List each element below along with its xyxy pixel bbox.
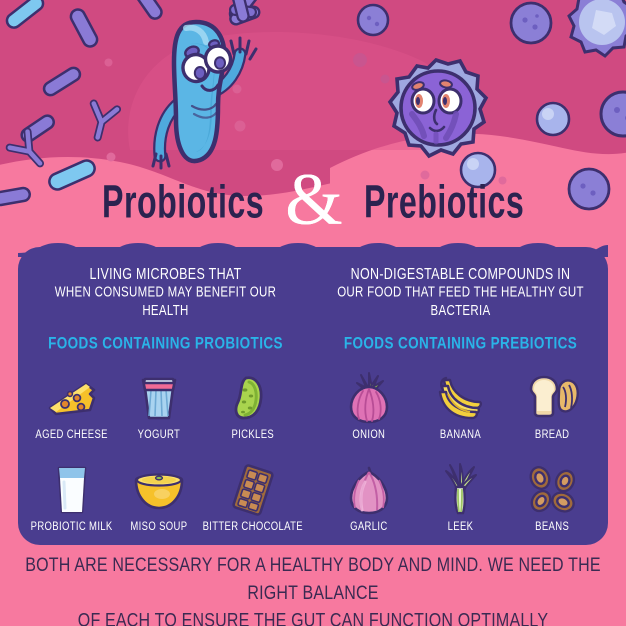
chocolate-bar-icon <box>227 463 279 517</box>
prebiotics-lead-line1: Non-digestable compounds in <box>335 265 586 284</box>
food-item-miso-soup[interactable]: Miso Soup <box>115 463 202 545</box>
food-item-pickles[interactable]: Pickles <box>203 371 303 453</box>
probiotics-lead-line1: Living microbes that <box>40 265 291 284</box>
beans-icon <box>525 463 579 517</box>
probiotics-subhead: Foods containing probiotics <box>18 334 313 352</box>
content-panel: Living microbes that when consumed may b… <box>18 247 608 545</box>
prebiotics-column: Non-digestable compounds in our food tha… <box>313 247 608 545</box>
infographic-canvas: Probiotics & Prebiotics Living microbes … <box>0 0 626 626</box>
round-cell-icon <box>355 2 391 38</box>
food-label: Leek <box>448 520 474 534</box>
food-label: Yogurt <box>138 428 181 442</box>
food-item-garlic[interactable]: Garlic <box>323 463 415 545</box>
food-label: Beans <box>535 520 569 534</box>
onion-icon <box>345 371 393 425</box>
round-cell-icon <box>560 0 626 68</box>
food-label: Garlic <box>350 520 387 534</box>
food-label: Onion <box>352 428 385 442</box>
dot-icon <box>104 58 113 67</box>
bread-icon <box>523 371 581 425</box>
food-item-beans[interactable]: Beans <box>506 463 598 545</box>
pickle-icon <box>230 371 276 425</box>
food-item-leek[interactable]: Leek <box>415 463 507 545</box>
food-label: Miso Soup <box>130 520 187 534</box>
title-ampersand: & <box>285 163 343 237</box>
dot-icon <box>106 152 116 162</box>
food-item-onion[interactable]: Onion <box>323 371 415 453</box>
round-cell-icon <box>534 100 572 138</box>
yogurt-cup-icon <box>137 371 181 425</box>
round-cell-icon <box>508 0 554 46</box>
banana-icon <box>432 371 488 425</box>
food-item-banana[interactable]: Banana <box>415 371 507 453</box>
milk-glass-icon <box>52 463 92 517</box>
food-item-bread[interactable]: Bread <box>506 371 598 453</box>
title-prebiotics: Prebiotics <box>364 177 524 230</box>
food-label: Pickles <box>231 428 274 442</box>
leek-icon <box>436 463 484 517</box>
dot-icon <box>352 52 368 68</box>
food-label: Bread <box>535 428 569 442</box>
food-label: Aged Cheese <box>35 428 107 442</box>
cheese-icon <box>46 371 98 425</box>
food-label: Bitter Chocolate <box>203 520 303 534</box>
food-label: Banana <box>440 428 481 442</box>
prebiotics-lead: Non-digestable compounds in our food tha… <box>313 265 608 321</box>
footer-line2: of each to ensure the gut can function o… <box>24 607 602 626</box>
prebiotics-food-grid: Onion Banana <box>313 371 608 545</box>
footer-text: Both are necessary for a healthy body an… <box>0 552 626 626</box>
probiotics-column: Living microbes that when consumed may b… <box>18 247 313 545</box>
round-cell-icon <box>597 88 626 140</box>
prebiotics-subhead: Foods containing prebiotics <box>313 334 608 352</box>
prebiotics-lead-line2: our food that feed the healthy gut bacte… <box>335 284 586 322</box>
title-probiotics: Probiotics <box>102 177 264 230</box>
footer-line1: Both are necessary for a healthy body an… <box>24 552 602 607</box>
food-item-probiotic-milk[interactable]: Probiotic Milk <box>28 463 115 545</box>
blue-bacterium-character <box>130 14 270 174</box>
dot-icon <box>270 158 284 172</box>
probiotics-lead-line2: when consumed may benefit our health <box>40 284 291 322</box>
soup-bowl-icon <box>132 463 186 517</box>
food-label: Probiotic Milk <box>31 520 113 534</box>
food-item-bitter-chocolate[interactable]: Bitter Chocolate <box>203 463 303 545</box>
food-item-yogurt[interactable]: Yogurt <box>115 371 202 453</box>
probiotics-food-grid: Aged Cheese <box>18 371 313 545</box>
purple-cell-character <box>378 56 494 172</box>
page-title: Probiotics & Prebiotics <box>0 176 626 230</box>
food-item-aged-cheese[interactable]: Aged Cheese <box>28 371 115 453</box>
probiotics-lead: Living microbes that when consumed may b… <box>18 265 313 321</box>
garlic-icon <box>345 463 393 517</box>
